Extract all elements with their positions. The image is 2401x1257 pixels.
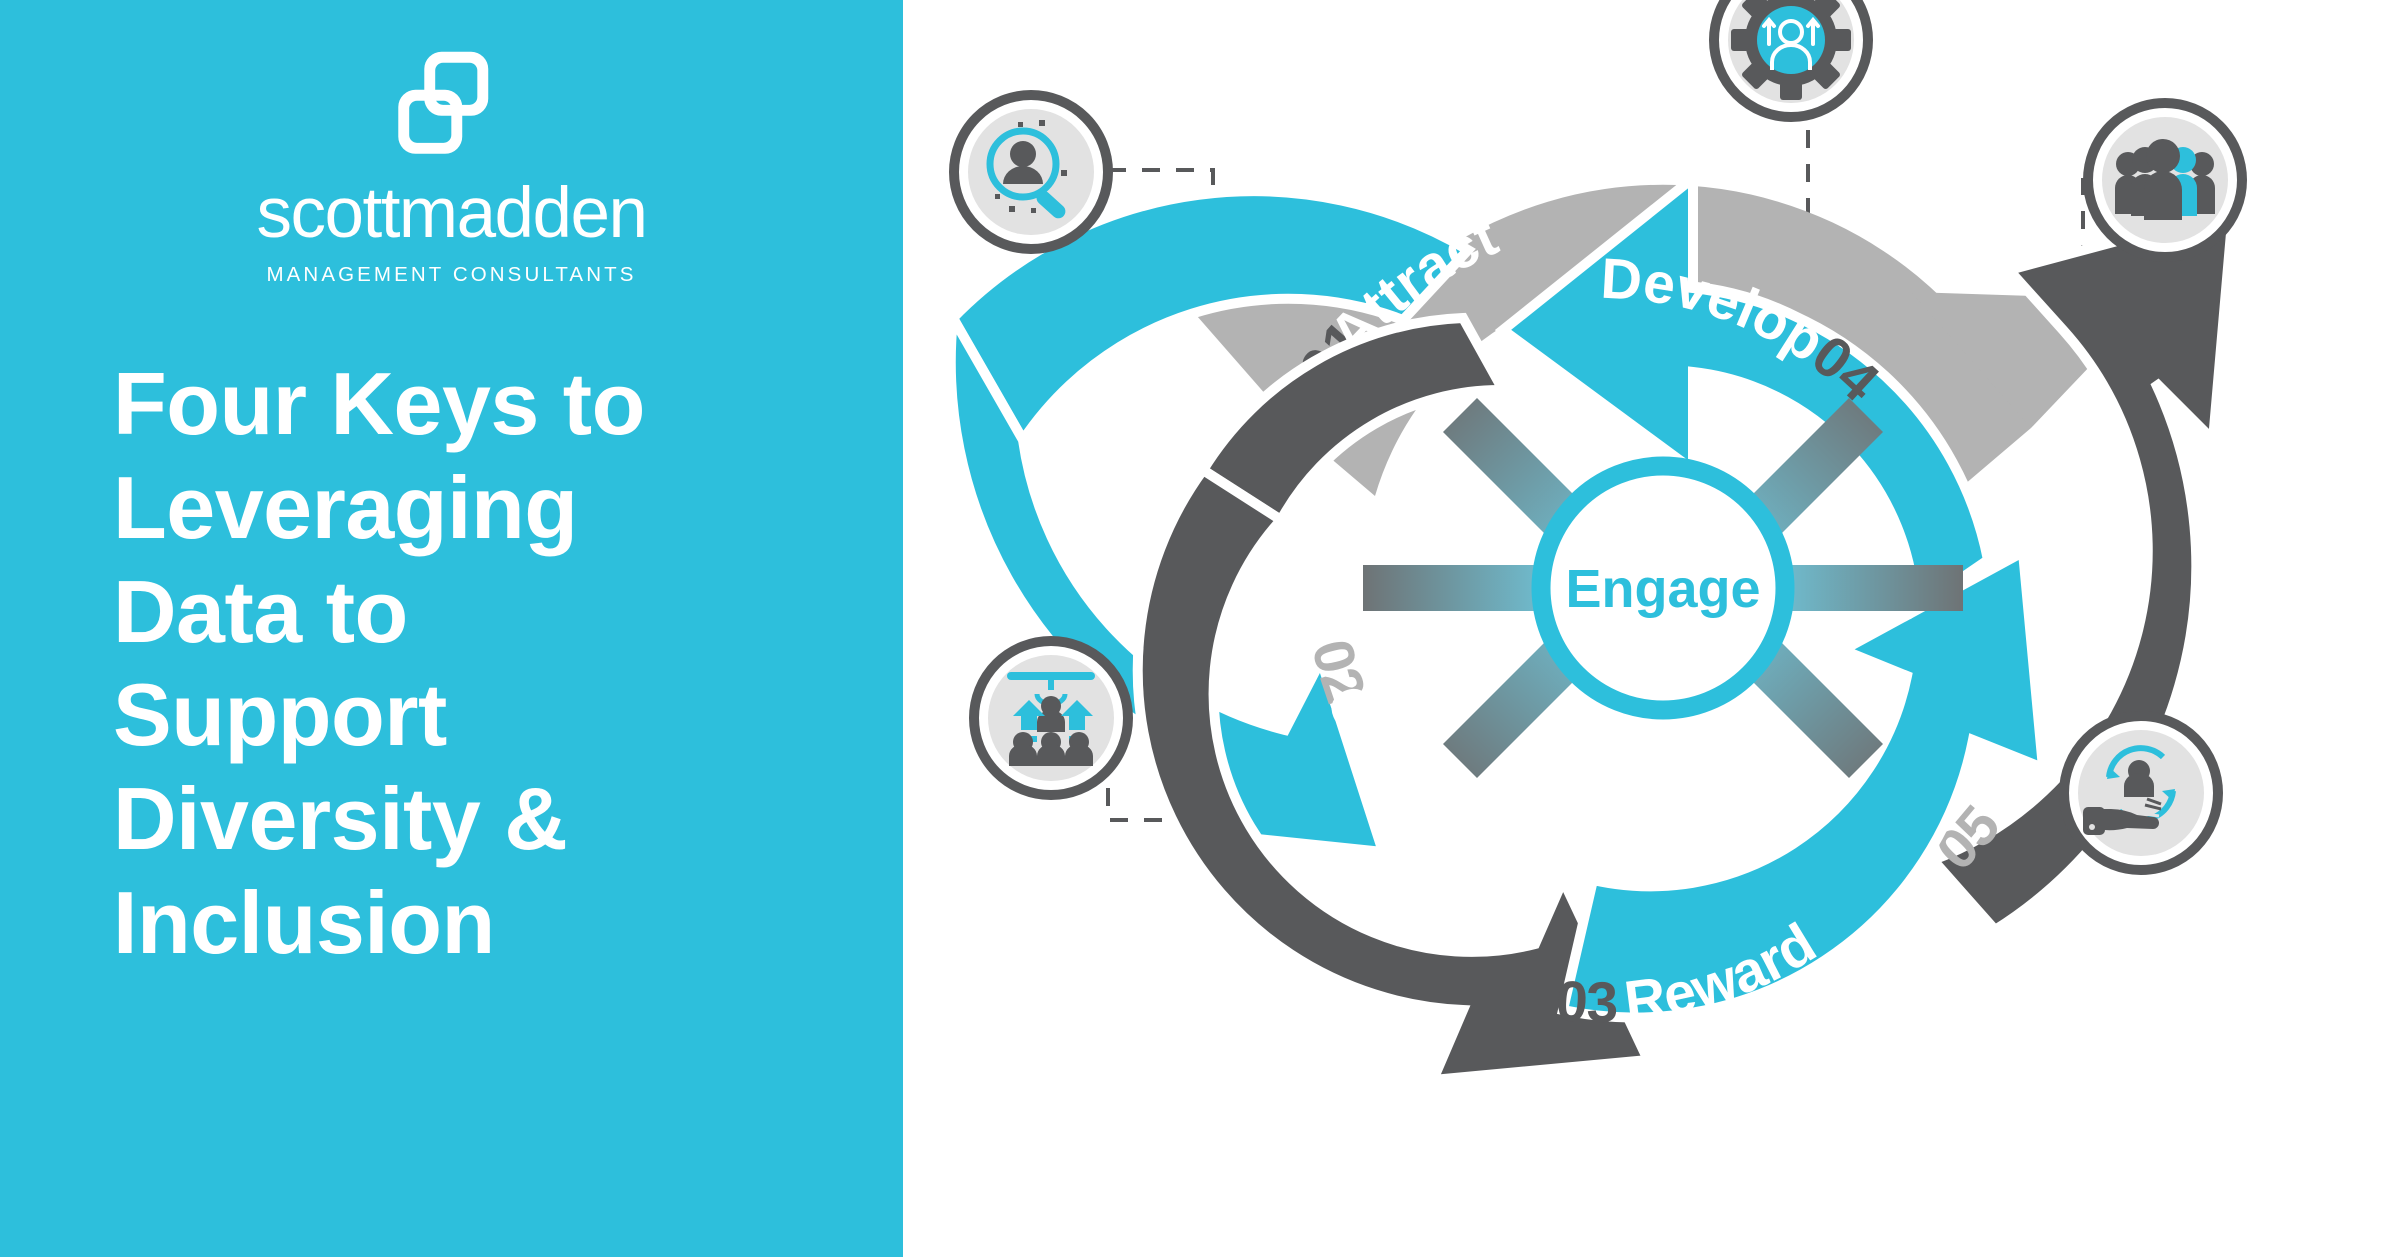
stage-number-reward: 03 — [1554, 969, 1618, 1035]
icon-badge-onboard[interactable] — [974, 641, 1128, 795]
engage-label: Engage — [1565, 559, 1760, 619]
icon-badge-attract[interactable] — [954, 95, 1108, 249]
employee-lifecycle-diagram: 05 Transition 01 Attract — [903, 0, 2401, 1257]
icon-badge-develop[interactable] — [1714, 0, 1868, 117]
engage-center[interactable]: Engage — [1541, 466, 1785, 710]
headline-line-2: Leveraging — [113, 456, 853, 560]
icon-badge-transition[interactable] — [2088, 103, 2242, 257]
scottmadden-logo-icon — [392, 48, 512, 168]
headline-line-6: Inclusion — [113, 871, 853, 975]
logo-block: scottmadden MANAGEMENT CONSULTANTS — [0, 48, 903, 287]
logo-tagline: MANAGEMENT CONSULTANTS — [0, 263, 903, 287]
headline-line-4: Support — [113, 663, 853, 767]
icon-badge-reward[interactable] — [2064, 716, 2218, 870]
logo-wordmark: scottmadden — [0, 178, 903, 249]
infographic-page: scottmadden MANAGEMENT CONSULTANTS Four … — [0, 0, 2401, 1257]
page-title: Four Keys to Leveraging Data to Support … — [113, 352, 853, 975]
headline-line-5: Diversity & — [113, 767, 853, 871]
headline-line-3: Data to — [113, 560, 853, 664]
left-brand-panel: scottmadden MANAGEMENT CONSULTANTS Four … — [0, 0, 903, 1257]
headline-line-1: Four Keys to — [113, 352, 853, 456]
